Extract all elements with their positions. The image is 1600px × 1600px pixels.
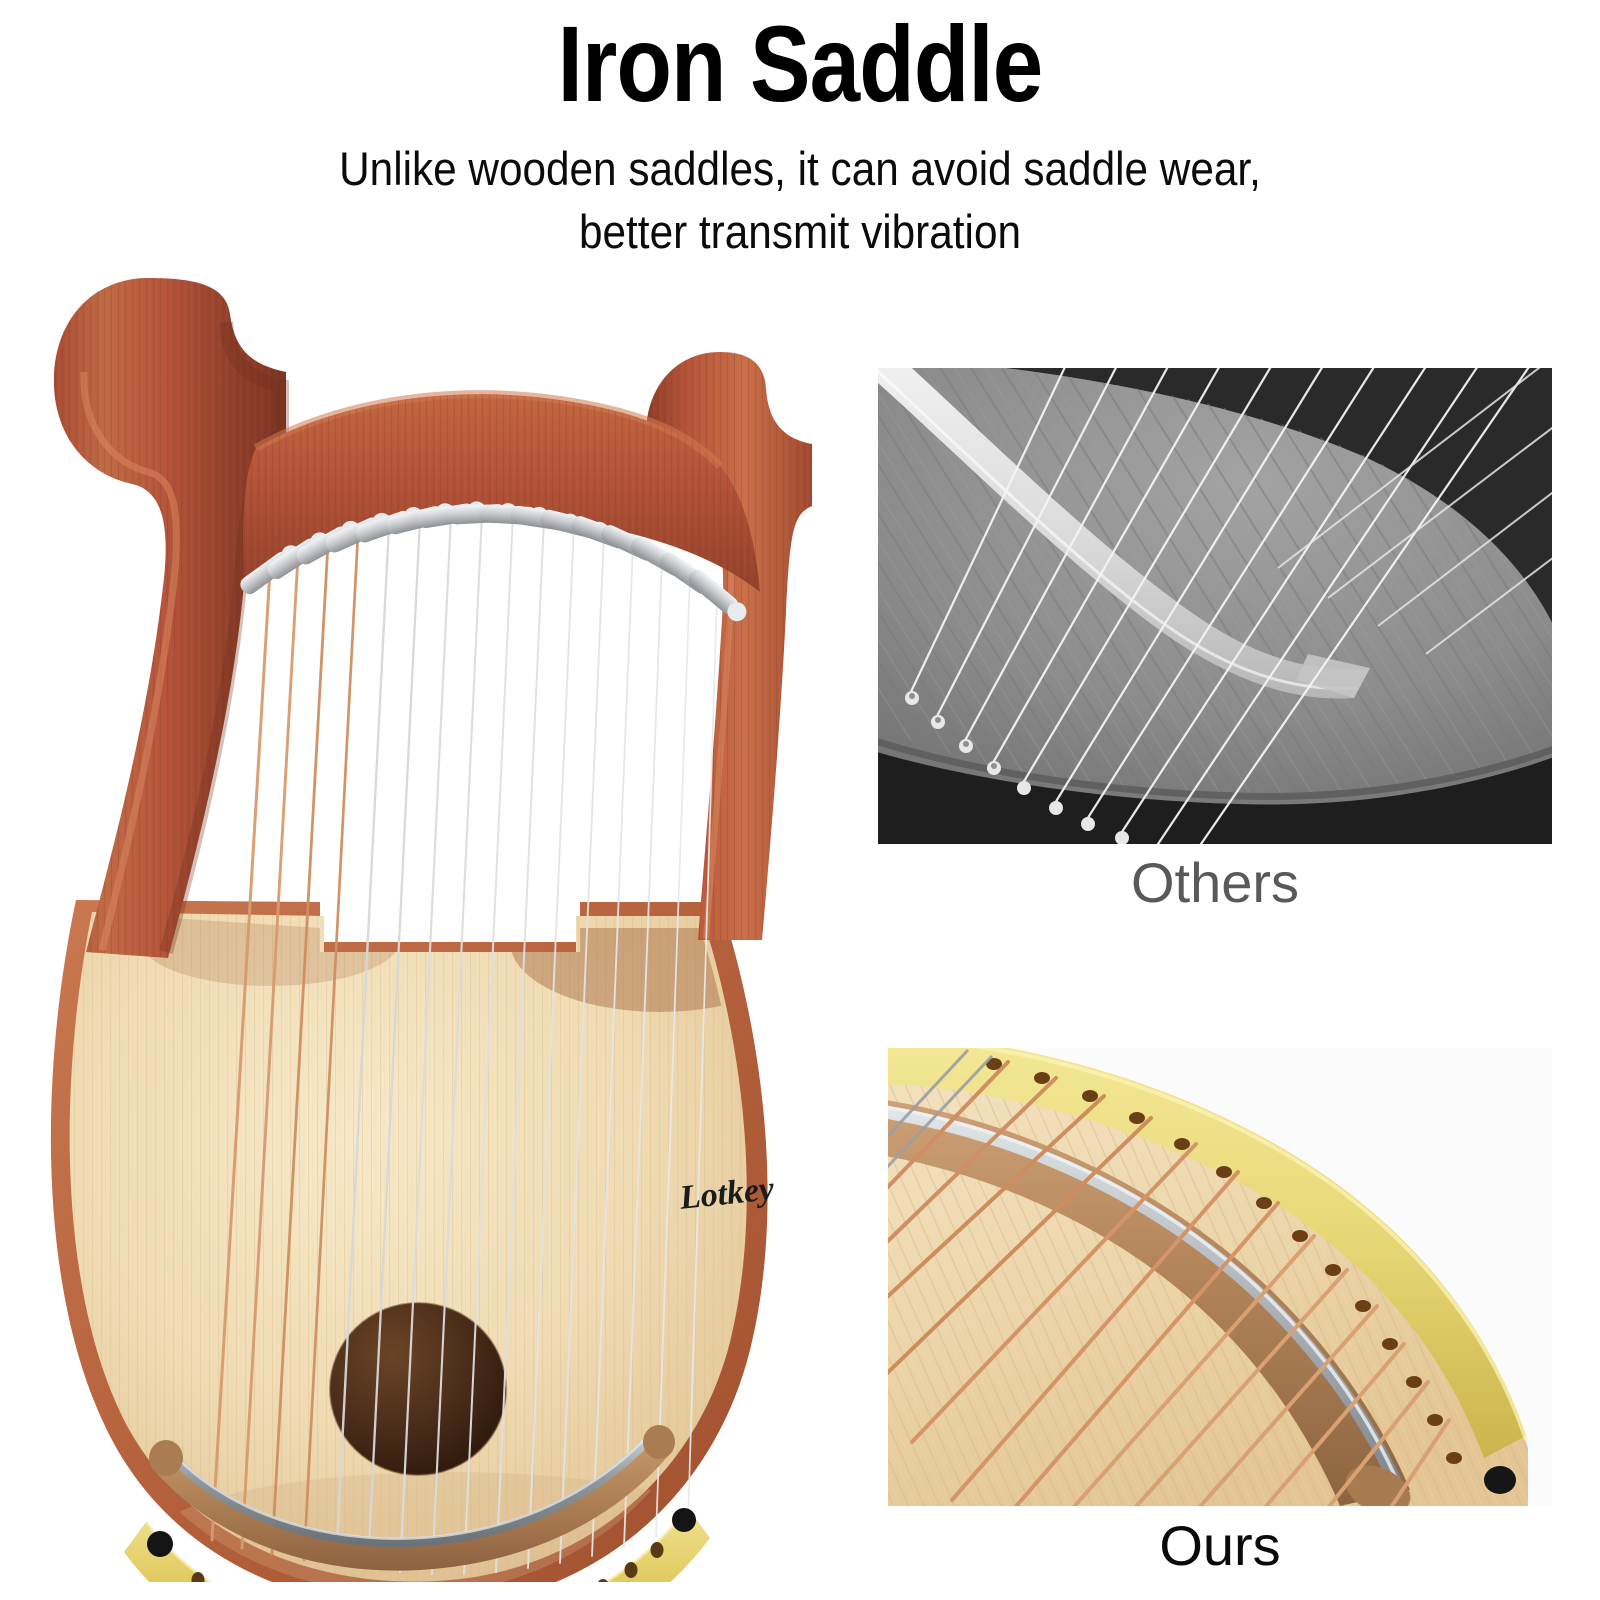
bridge-right-end bbox=[643, 1425, 675, 1459]
lyre-left-arm bbox=[54, 278, 286, 958]
ours-saddle-photo bbox=[888, 1048, 1552, 1506]
bridge-left-end bbox=[149, 1440, 183, 1476]
others-saddle-photo bbox=[878, 368, 1552, 844]
tailpiece-screw-right bbox=[672, 1508, 696, 1532]
product-photo-lyre: Lotkey bbox=[20, 252, 860, 1582]
page-subtitle: Unlike wooden saddles, it can avoid sadd… bbox=[80, 138, 1520, 263]
photo-panel-others bbox=[878, 368, 1552, 844]
lyre-illustration: Lotkey bbox=[20, 252, 860, 1582]
header-block: Iron Saddle Unlike wooden saddles, it ca… bbox=[0, 0, 1600, 263]
panel-label-ours: Ours bbox=[888, 1518, 1552, 1574]
ours-tailpiece-screw bbox=[1484, 1466, 1516, 1494]
panel-label-others: Others bbox=[878, 855, 1552, 911]
photo-panel-ours bbox=[888, 1048, 1552, 1506]
page-title: Iron Saddle bbox=[128, 8, 1472, 120]
tailpiece-screw-left bbox=[147, 1531, 173, 1557]
